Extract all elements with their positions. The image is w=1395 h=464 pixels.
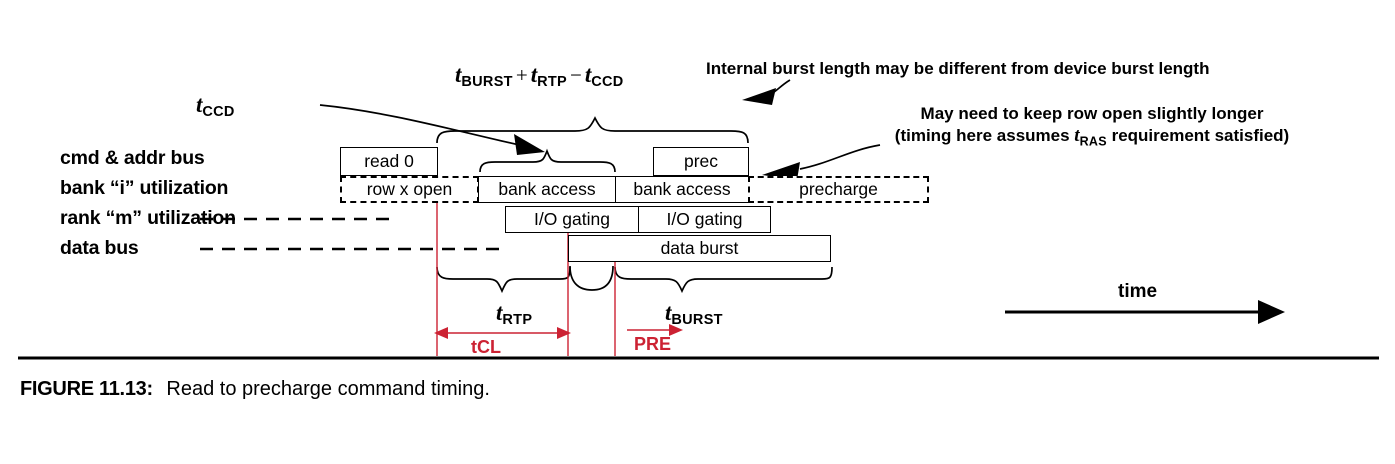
trtp-sub: RTP	[502, 312, 532, 328]
burst-note-arrowhead	[742, 88, 776, 105]
brace-tccd	[480, 151, 615, 172]
box-precharge[interactable]: precharge	[748, 176, 929, 203]
note-keep-row-open-line1: May need to keep row open slightly longe…	[856, 103, 1328, 124]
time-axis-arrowhead	[1258, 300, 1285, 324]
annotation-trtp: tRTP	[496, 300, 532, 328]
row-label-data-bus: data bus	[60, 237, 139, 260]
note-line2-suffix: requirement satisfied)	[1107, 126, 1289, 145]
tccd-leader-line	[320, 105, 524, 146]
brace-burst-rtp-ccd	[437, 118, 748, 143]
label-tcl: tCL	[471, 337, 501, 358]
note-keep-row-open-line2: (timing here assumes tRAS requirement sa…	[856, 124, 1328, 150]
formula-sub1: BURST	[461, 74, 512, 90]
box-read-0[interactable]: read 0	[340, 147, 438, 176]
box-io-gating-1[interactable]: I/O gating	[505, 206, 639, 233]
tcl-arrowhead-right	[557, 327, 571, 339]
formula-op2: −	[567, 63, 585, 87]
brace-dip-between	[570, 266, 613, 290]
box-bank-access-1[interactable]: bank access	[478, 176, 616, 203]
formula-sub2: RTP	[537, 74, 567, 90]
tccd-sub: CCD	[202, 104, 234, 120]
box-row-x-open[interactable]: row x open	[340, 176, 479, 203]
annotation-tccd: tCCD	[196, 92, 235, 120]
label-time-axis: time	[1118, 281, 1157, 303]
annotation-formula: tBURST+tRTP−tCCD	[455, 62, 624, 90]
box-prec[interactable]: prec	[653, 147, 749, 176]
figure-canvas: cmd & addr bus bank “i” utilization rank…	[0, 0, 1395, 464]
figure-caption-label: FIGURE 11.13:	[20, 378, 153, 400]
figure-caption: FIGURE 11.13: Read to precharge command …	[20, 378, 490, 401]
brace-trtp	[437, 267, 570, 291]
box-bank-access-2[interactable]: bank access	[615, 176, 749, 203]
tccd-arrowhead	[514, 134, 545, 155]
note-line2-prefix: (timing here assumes	[895, 126, 1075, 145]
tcl-arrowhead-left	[434, 327, 448, 339]
box-data-burst[interactable]: data burst	[568, 235, 831, 262]
row-label-cmd-addr-bus: cmd & addr bus	[60, 147, 205, 170]
row-label-rank-utilization: rank “m” utilization	[60, 207, 236, 230]
formula-sub3: CCD	[591, 74, 623, 90]
brace-tburst	[615, 267, 832, 291]
tburst-sub: BURST	[671, 312, 722, 328]
box-io-gating-2[interactable]: I/O gating	[638, 206, 771, 233]
formula-op1: +	[513, 63, 531, 87]
note-internal-burst-length: Internal burst length may be different f…	[706, 58, 1209, 79]
row-label-bank-utilization: bank “i” utilization	[60, 177, 228, 200]
figure-caption-text: Read to precharge command timing.	[166, 378, 490, 400]
annotation-tburst: tBURST	[665, 300, 723, 328]
label-pre: PRE	[634, 334, 671, 355]
note-tras-sub: RAS	[1080, 135, 1107, 149]
note-keep-row-open: May need to keep row open slightly longe…	[856, 103, 1328, 150]
